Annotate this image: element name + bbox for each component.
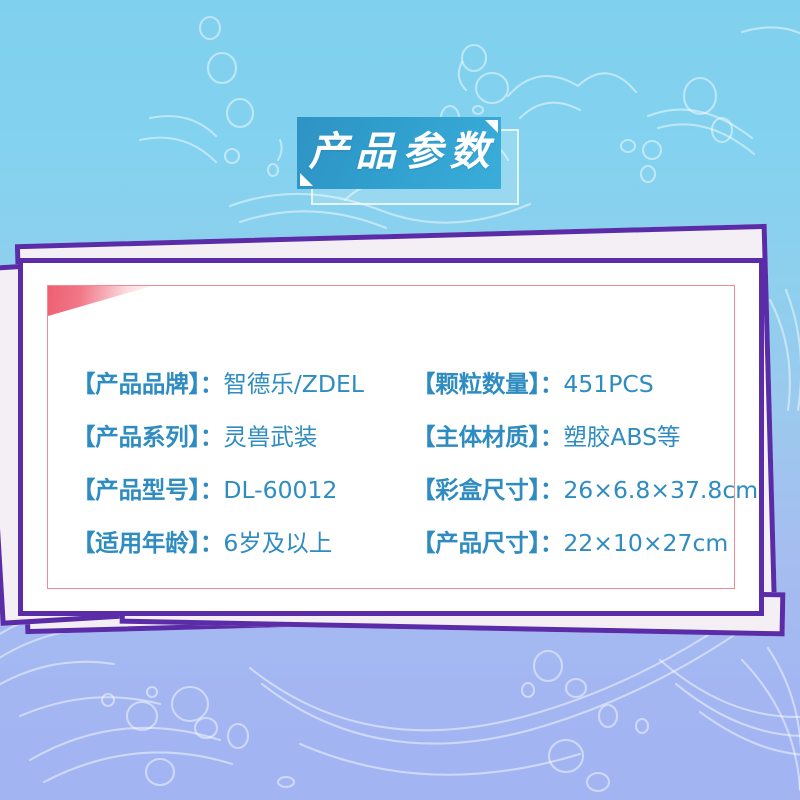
- corner-accent-triangle: [48, 286, 152, 316]
- spec-label-piece-count: 【颗粒数量】：: [412, 370, 563, 398]
- spec-row-material: 【主体材质】：塑胶ABS等: [412, 426, 758, 450]
- spec-value-age: 6岁及以上: [223, 529, 332, 557]
- spec-row-series: 【产品系列】：灵兽武装: [72, 426, 412, 450]
- spec-value-piece-count: 451PCS: [563, 370, 653, 398]
- spec-value-brand: 智德乐/: [223, 370, 301, 398]
- spec-row-box-size: 【彩盒尺寸】：26×6.8×37.8cm: [412, 479, 758, 503]
- spec-label-material: 【主体材质】：: [412, 423, 563, 451]
- spec-grid: 【产品品牌】：智德乐/ZDEL 【颗粒数量】：451PCS 【产品系列】：灵兽武…: [72, 358, 714, 570]
- banner-plate: 产品参数: [297, 117, 501, 189]
- spec-label-product-size: 【产品尺寸】：: [412, 529, 563, 557]
- spec-row-brand: 【产品品牌】：智德乐/ZDEL: [72, 373, 412, 397]
- spec-row-model: 【产品型号】：DL-60012: [72, 479, 412, 503]
- spec-value-model: DL-60012: [223, 476, 337, 504]
- spec-value-brand-abbr: ZDEL: [302, 370, 364, 398]
- title-banner: 产品参数: [297, 117, 507, 195]
- spec-label-series: 【产品系列】：: [72, 423, 223, 451]
- product-spec-poster: 产品参数 【产品品牌】：智德乐/ZDEL 【颗粒数量】：451PCS 【产品系列…: [0, 0, 800, 800]
- spec-value-box-size: 26×6.8×37.8cm: [563, 476, 758, 504]
- page-title: 产品参数: [297, 117, 501, 189]
- spec-row-age: 【适用年龄】：6岁及以上: [72, 532, 412, 556]
- spec-label-brand: 【产品品牌】：: [72, 370, 223, 398]
- spec-row-product-size: 【产品尺寸】：22×10×27cm: [412, 532, 758, 556]
- spec-value-material: 塑胶ABS等: [563, 423, 680, 451]
- spec-label-model: 【产品型号】：: [72, 476, 223, 504]
- spec-label-age: 【适用年龄】：: [72, 529, 223, 557]
- spec-value-series: 灵兽武装: [223, 423, 317, 451]
- spec-card-inner-rule: 【产品品牌】：智德乐/ZDEL 【颗粒数量】：451PCS 【产品系列】：灵兽武…: [47, 285, 735, 589]
- spec-card: 【产品品牌】：智德乐/ZDEL 【颗粒数量】：451PCS 【产品系列】：灵兽武…: [18, 258, 764, 616]
- spec-label-box-size: 【彩盒尺寸】：: [412, 476, 563, 504]
- spec-row-piece-count: 【颗粒数量】：451PCS: [412, 373, 758, 397]
- spec-value-product-size: 22×10×27cm: [563, 529, 728, 557]
